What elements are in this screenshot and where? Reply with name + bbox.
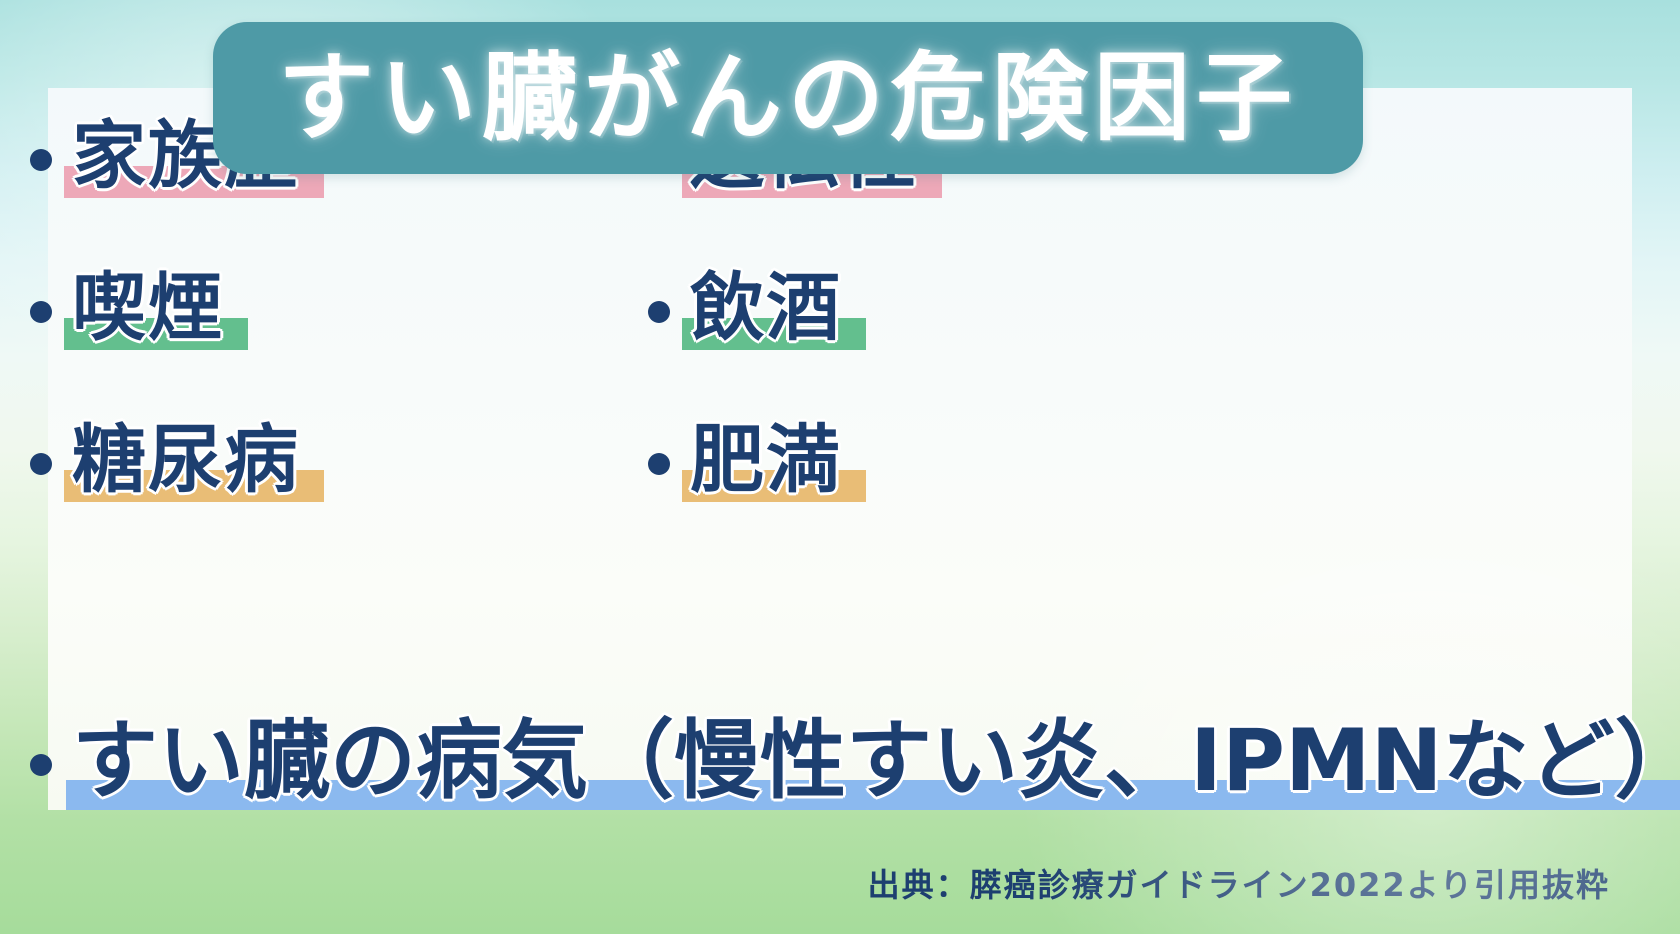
risk-item-obesity: 肥満 [648,422,842,500]
risk-row-3: 糖尿病 肥満 [0,422,1680,572]
bullet-dot-icon [648,301,670,323]
slide-root: すい臓がんの危険因子 家族歴 遺伝性 [0,0,1680,934]
risk-item-drinking: 飲酒 [648,270,842,348]
risk-factor-list: 家族歴 遺伝性 喫煙 [0,118,1680,678]
risk-term: 肥満 [690,422,842,500]
risk-term: 糖尿病 [72,422,300,500]
risk-label: 飲酒 [690,265,842,351]
bullet-dot-icon [30,754,52,776]
risk-label: すい臓の病気（慢性すい炎、IPMNなど） [72,711,1680,811]
risk-term: 飲酒 [690,270,842,348]
risk-term: 喫煙 [72,270,224,348]
bullet-dot-icon [30,301,52,323]
risk-item-pancreatic-disease: すい臓の病気（慢性すい炎、IPMNなど） [30,716,1680,806]
risk-label: 肥満 [690,417,842,503]
risk-item-smoking: 喫煙 [30,270,224,348]
risk-row-2: 喫煙 飲酒 [0,270,1680,420]
risk-label: 糖尿病 [72,417,300,503]
title-banner: すい臓がんの危険因子 [213,22,1363,174]
page-title: すい臓がんの危険因子 [278,50,1298,146]
risk-label: 喫煙 [72,265,224,351]
risk-term: すい臓の病気（慢性すい炎、IPMNなど） [72,716,1680,806]
bullet-dot-icon [30,453,52,475]
bullet-dot-icon [30,149,52,171]
bullet-dot-icon [648,453,670,475]
source-citation: 出典：膵癌診療ガイドライン2022より引用抜粋 [868,860,1610,906]
risk-item-diabetes: 糖尿病 [30,422,300,500]
